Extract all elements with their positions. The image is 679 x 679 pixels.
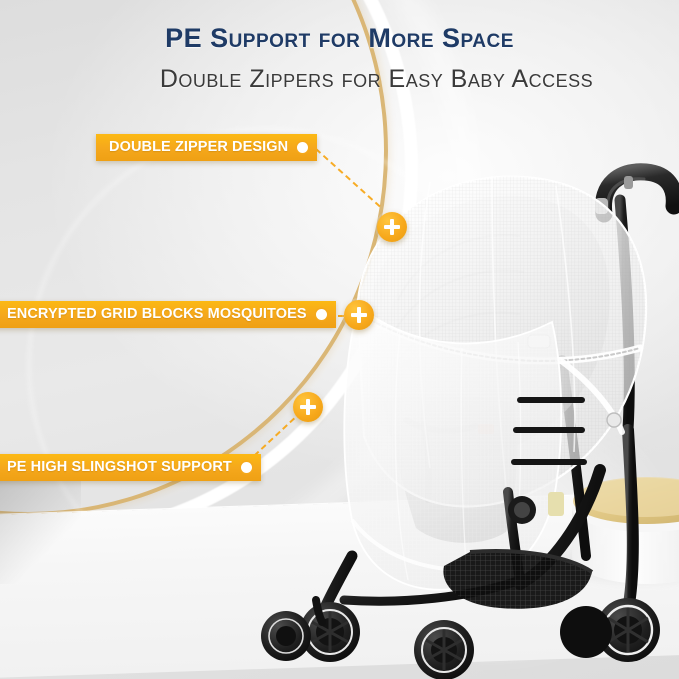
headline-block: PE Support for More Space Double Zippers…: [0, 24, 679, 92]
headline-primary: PE Support for More Space: [0, 24, 679, 53]
plus-icon-pe-support[interactable]: [293, 392, 323, 422]
stroller-wheel-rear-right: [560, 598, 660, 662]
plus-icon-encrypted-grid[interactable]: [344, 300, 374, 330]
callout-badge-double-zipper-design[interactable]: DOUBLE ZIPPER DESIGN: [96, 134, 317, 161]
callout-label: ENCRYPTED GRID BLOCKS MOSQUITOES: [7, 307, 307, 322]
product-infographic: PE Support for More Space Double Zippers…: [0, 0, 679, 679]
plus-icon-double-zipper[interactable]: [377, 212, 407, 242]
callout-label: PE HIGH SLINGSHOT SUPPORT: [7, 460, 232, 475]
stroller-basket: [443, 551, 592, 609]
callout-badge-pe-high-slingshot-support[interactable]: PE HIGH SLINGSHOT SUPPORT: [0, 454, 261, 481]
stroller-product-illustration: [0, 0, 679, 679]
stroller-wheel-front-right: [261, 611, 311, 661]
callout-anchor-dot-icon: [241, 462, 252, 473]
stroller-label-tag: [548, 492, 564, 516]
mosquito-net-skirt: [344, 306, 561, 590]
callout-anchor-dot-icon: [316, 309, 327, 320]
headline-secondary: Double Zippers for Easy Baby Access: [0, 66, 679, 93]
callout-badge-encrypted-grid-blocks-mosquitoes[interactable]: ENCRYPTED GRID BLOCKS MOSQUITOES: [0, 301, 336, 328]
callout-anchor-dot-icon: [297, 142, 308, 153]
callout-label: DOUBLE ZIPPER DESIGN: [109, 140, 288, 155]
stroller-wheel-rear-left: [414, 620, 474, 679]
